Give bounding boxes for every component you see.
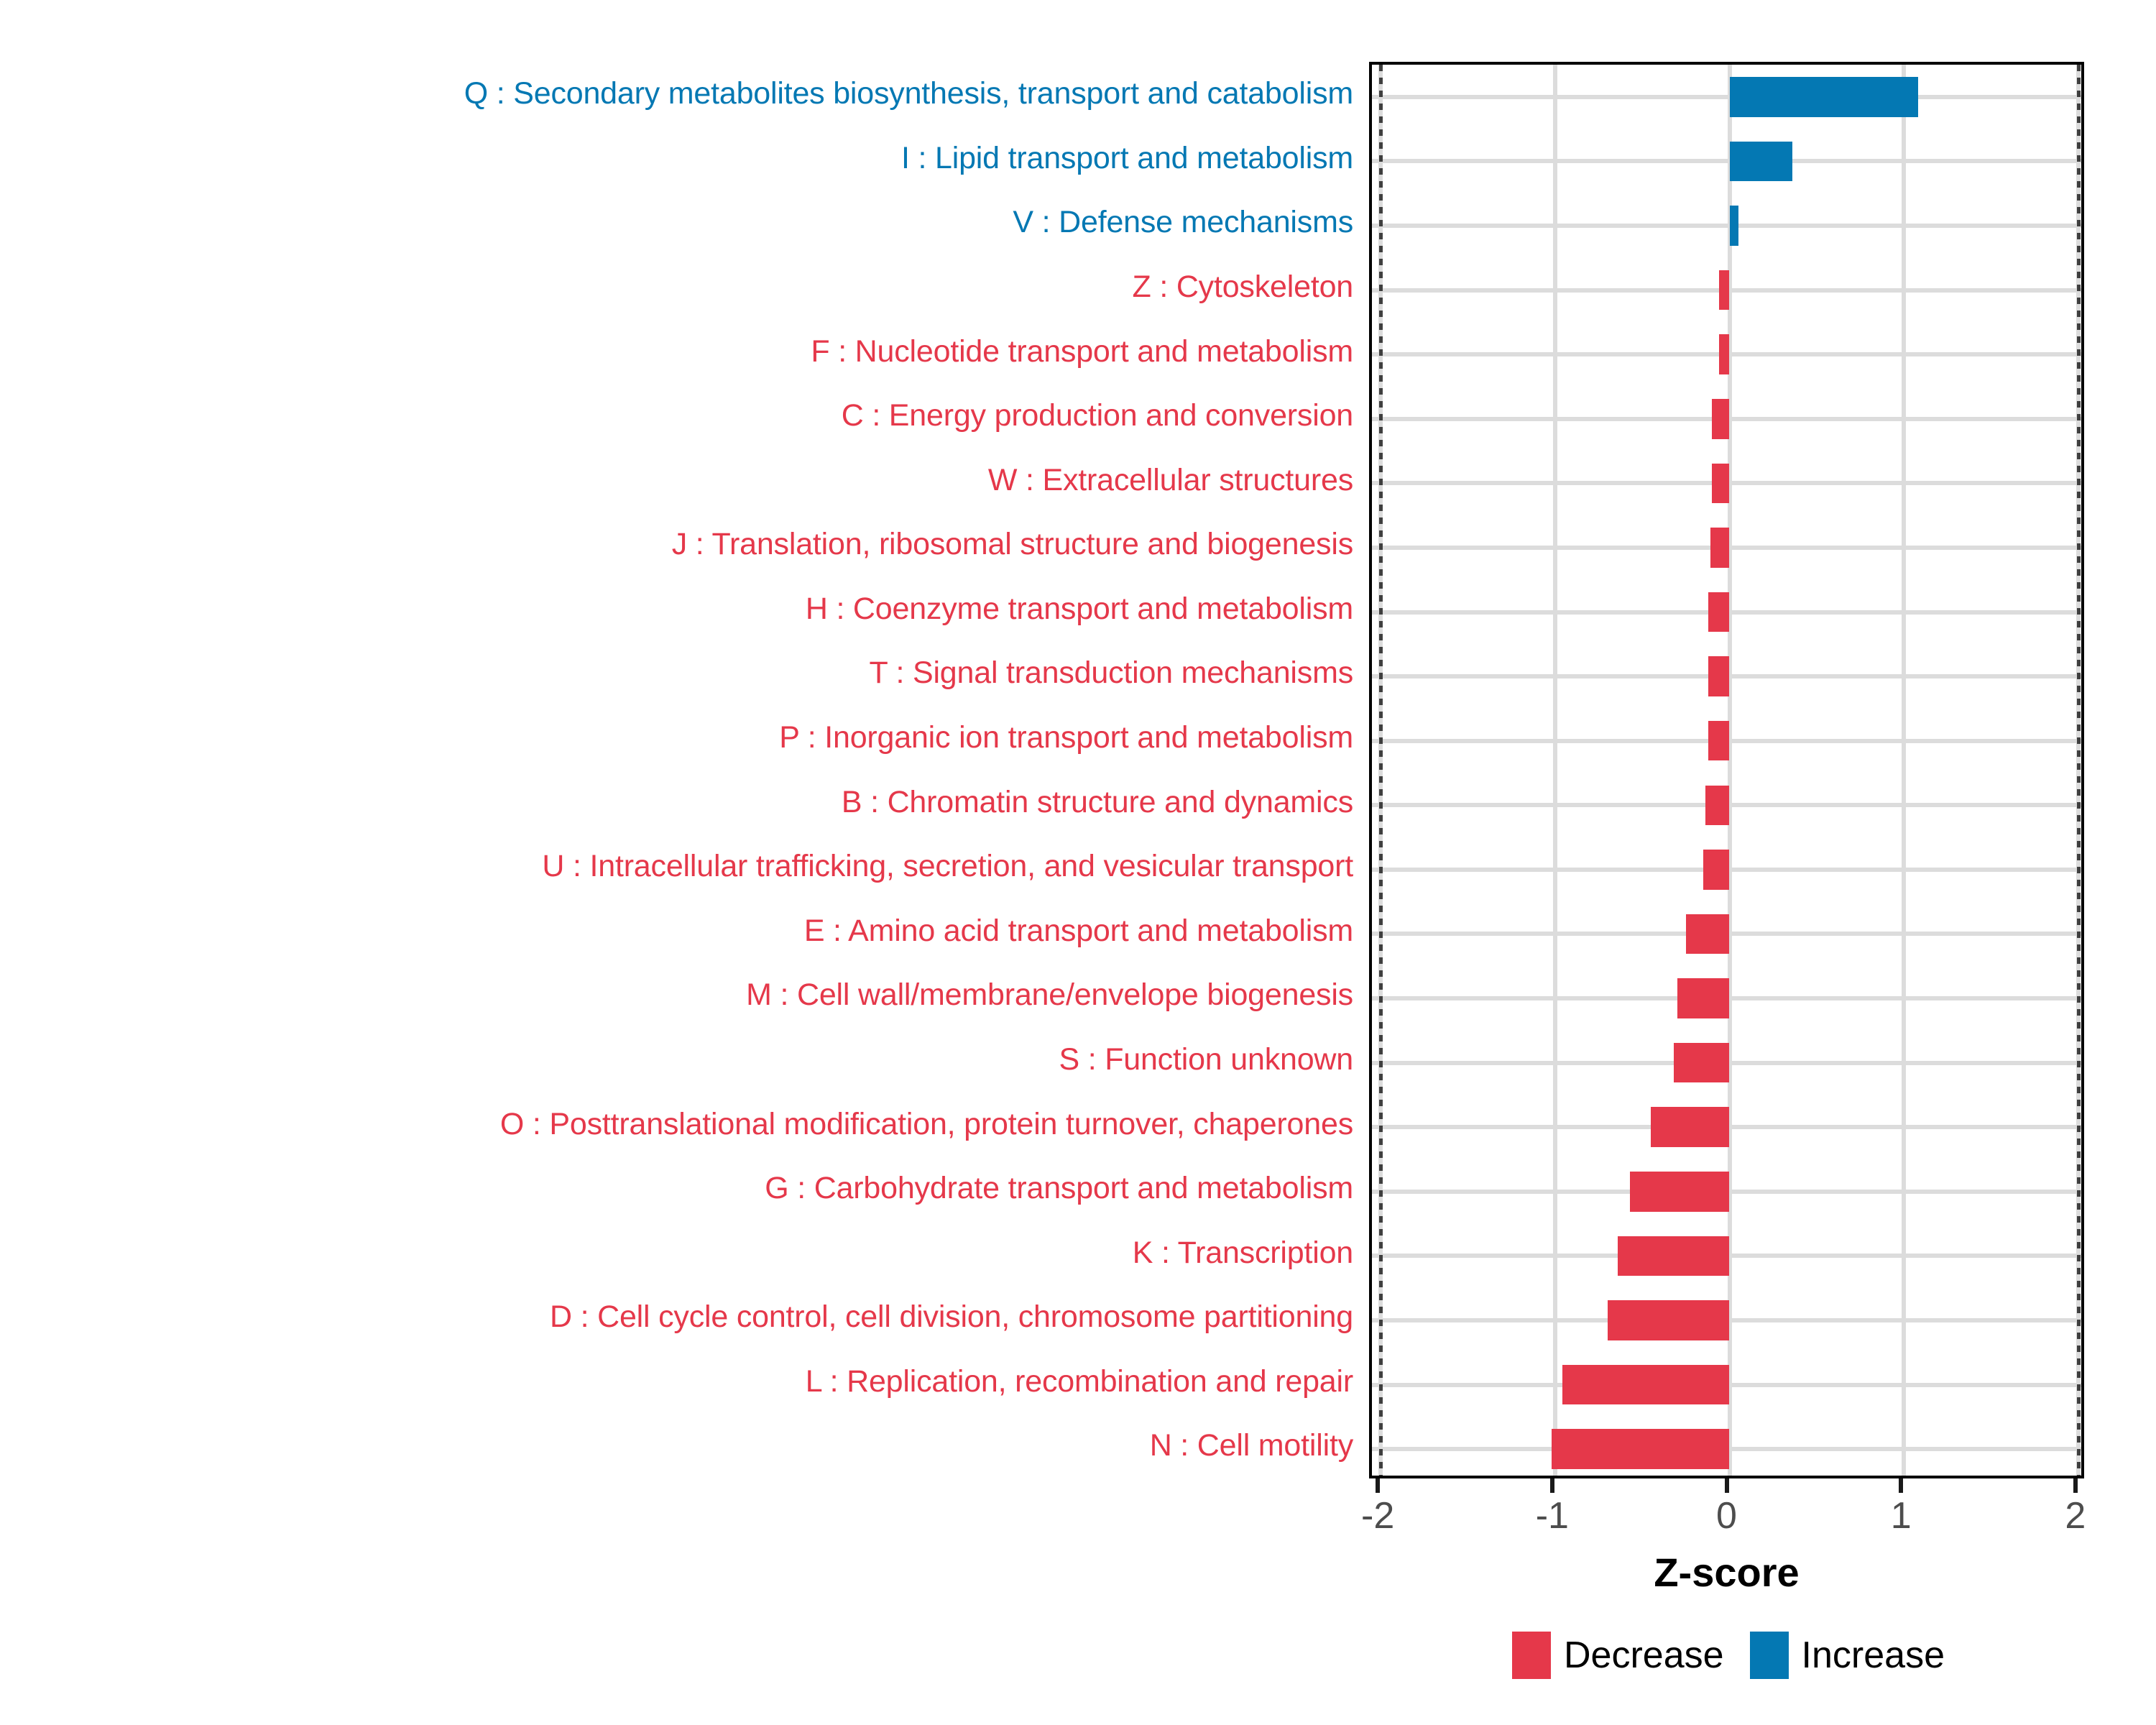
category-label: B : Chromatin structure and dynamics bbox=[0, 770, 1369, 834]
bar[interactable] bbox=[1708, 592, 1729, 632]
legend-swatch-increase bbox=[1750, 1632, 1789, 1679]
bar[interactable] bbox=[1562, 1365, 1730, 1405]
bar[interactable] bbox=[1705, 786, 1730, 826]
category-label: C : Energy production and conversion bbox=[0, 384, 1369, 448]
category-label: N : Cell motility bbox=[0, 1414, 1369, 1478]
category-label: U : Intracellular trafficking, secretion… bbox=[0, 834, 1369, 899]
bar[interactable] bbox=[1674, 1043, 1730, 1083]
bar[interactable] bbox=[1730, 206, 1738, 246]
legend-swatch-decrease bbox=[1512, 1632, 1551, 1679]
category-label: K : Transcription bbox=[0, 1220, 1369, 1285]
x-axis-tick bbox=[1550, 1478, 1554, 1493]
bar[interactable] bbox=[1708, 656, 1729, 696]
x-axis-tick-label: 0 bbox=[1716, 1494, 1737, 1537]
bar[interactable] bbox=[1703, 850, 1729, 890]
x-axis-tick bbox=[1725, 1478, 1729, 1493]
category-label: L : Replication, recombination and repai… bbox=[0, 1350, 1369, 1414]
bar[interactable] bbox=[1677, 978, 1730, 1018]
plot-panel bbox=[1369, 62, 2084, 1478]
x-axis-tick bbox=[1899, 1478, 1903, 1493]
category-label: P : Inorganic ion transport and metaboli… bbox=[0, 706, 1369, 770]
legend-label-increase: Increase bbox=[1802, 1634, 1945, 1677]
category-label: F : Nucleotide transport and metabolism bbox=[0, 319, 1369, 384]
bar[interactable] bbox=[1608, 1300, 1730, 1340]
bar[interactable] bbox=[1712, 399, 1729, 439]
bar[interactable] bbox=[1686, 914, 1730, 954]
bar[interactable] bbox=[1730, 77, 1918, 117]
x-axis-tick bbox=[2073, 1478, 2078, 1493]
bar[interactable] bbox=[1651, 1107, 1729, 1147]
legend-label-decrease: Decrease bbox=[1564, 1634, 1724, 1677]
category-label: G : Carbohydrate transport and metabolis… bbox=[0, 1156, 1369, 1221]
x-axis-tick bbox=[1376, 1478, 1380, 1493]
category-label: V : Defense mechanisms bbox=[0, 190, 1369, 255]
x-axis-tick-label: 1 bbox=[1891, 1494, 1912, 1537]
bar[interactable] bbox=[1708, 721, 1729, 761]
category-label: M : Cell wall/membrane/envelope biogenes… bbox=[0, 963, 1369, 1028]
category-label: O : Posttranslational modification, prot… bbox=[0, 1092, 1369, 1156]
category-label: J : Translation, ribosomal structure and… bbox=[0, 512, 1369, 577]
category-label: T : Signal transduction mechanisms bbox=[0, 641, 1369, 706]
bar[interactable] bbox=[1730, 142, 1792, 182]
x-axis-tick-label: 2 bbox=[2065, 1494, 2086, 1537]
category-label: E : Amino acid transport and metabolism bbox=[0, 899, 1369, 964]
category-label: I : Lipid transport and metabolism bbox=[0, 126, 1369, 191]
bar[interactable] bbox=[1710, 528, 1730, 568]
bars-layer bbox=[1372, 65, 2081, 1476]
category-label: H : Coenzyme transport and metabolism bbox=[0, 577, 1369, 642]
category-label: D : Cell cycle control, cell division, c… bbox=[0, 1285, 1369, 1350]
x-axis-tick-label: -2 bbox=[1361, 1494, 1394, 1537]
chart-legend: Decrease Increase bbox=[1369, 1632, 2088, 1679]
category-label: Z : Cytoskeleton bbox=[0, 255, 1369, 320]
category-label: W : Extracellular structures bbox=[0, 448, 1369, 512]
legend-item-increase[interactable]: Increase bbox=[1750, 1632, 1945, 1679]
category-label: S : Function unknown bbox=[0, 1028, 1369, 1092]
x-axis-title: Z-score bbox=[1369, 1549, 2084, 1596]
bar[interactable] bbox=[1552, 1429, 1730, 1469]
bar[interactable] bbox=[1630, 1172, 1729, 1212]
legend-item-decrease[interactable]: Decrease bbox=[1512, 1632, 1724, 1679]
bar[interactable] bbox=[1712, 464, 1729, 504]
bar[interactable] bbox=[1719, 270, 1730, 310]
bar[interactable] bbox=[1719, 334, 1730, 374]
x-axis-tick-label: -1 bbox=[1536, 1494, 1569, 1537]
chart-root: Q : Secondary metabolites biosynthesis, … bbox=[0, 0, 2156, 1725]
category-axis-labels: Q : Secondary metabolites biosynthesis, … bbox=[0, 62, 1369, 1478]
bar[interactable] bbox=[1618, 1236, 1729, 1276]
category-label: Q : Secondary metabolites biosynthesis, … bbox=[0, 62, 1369, 126]
